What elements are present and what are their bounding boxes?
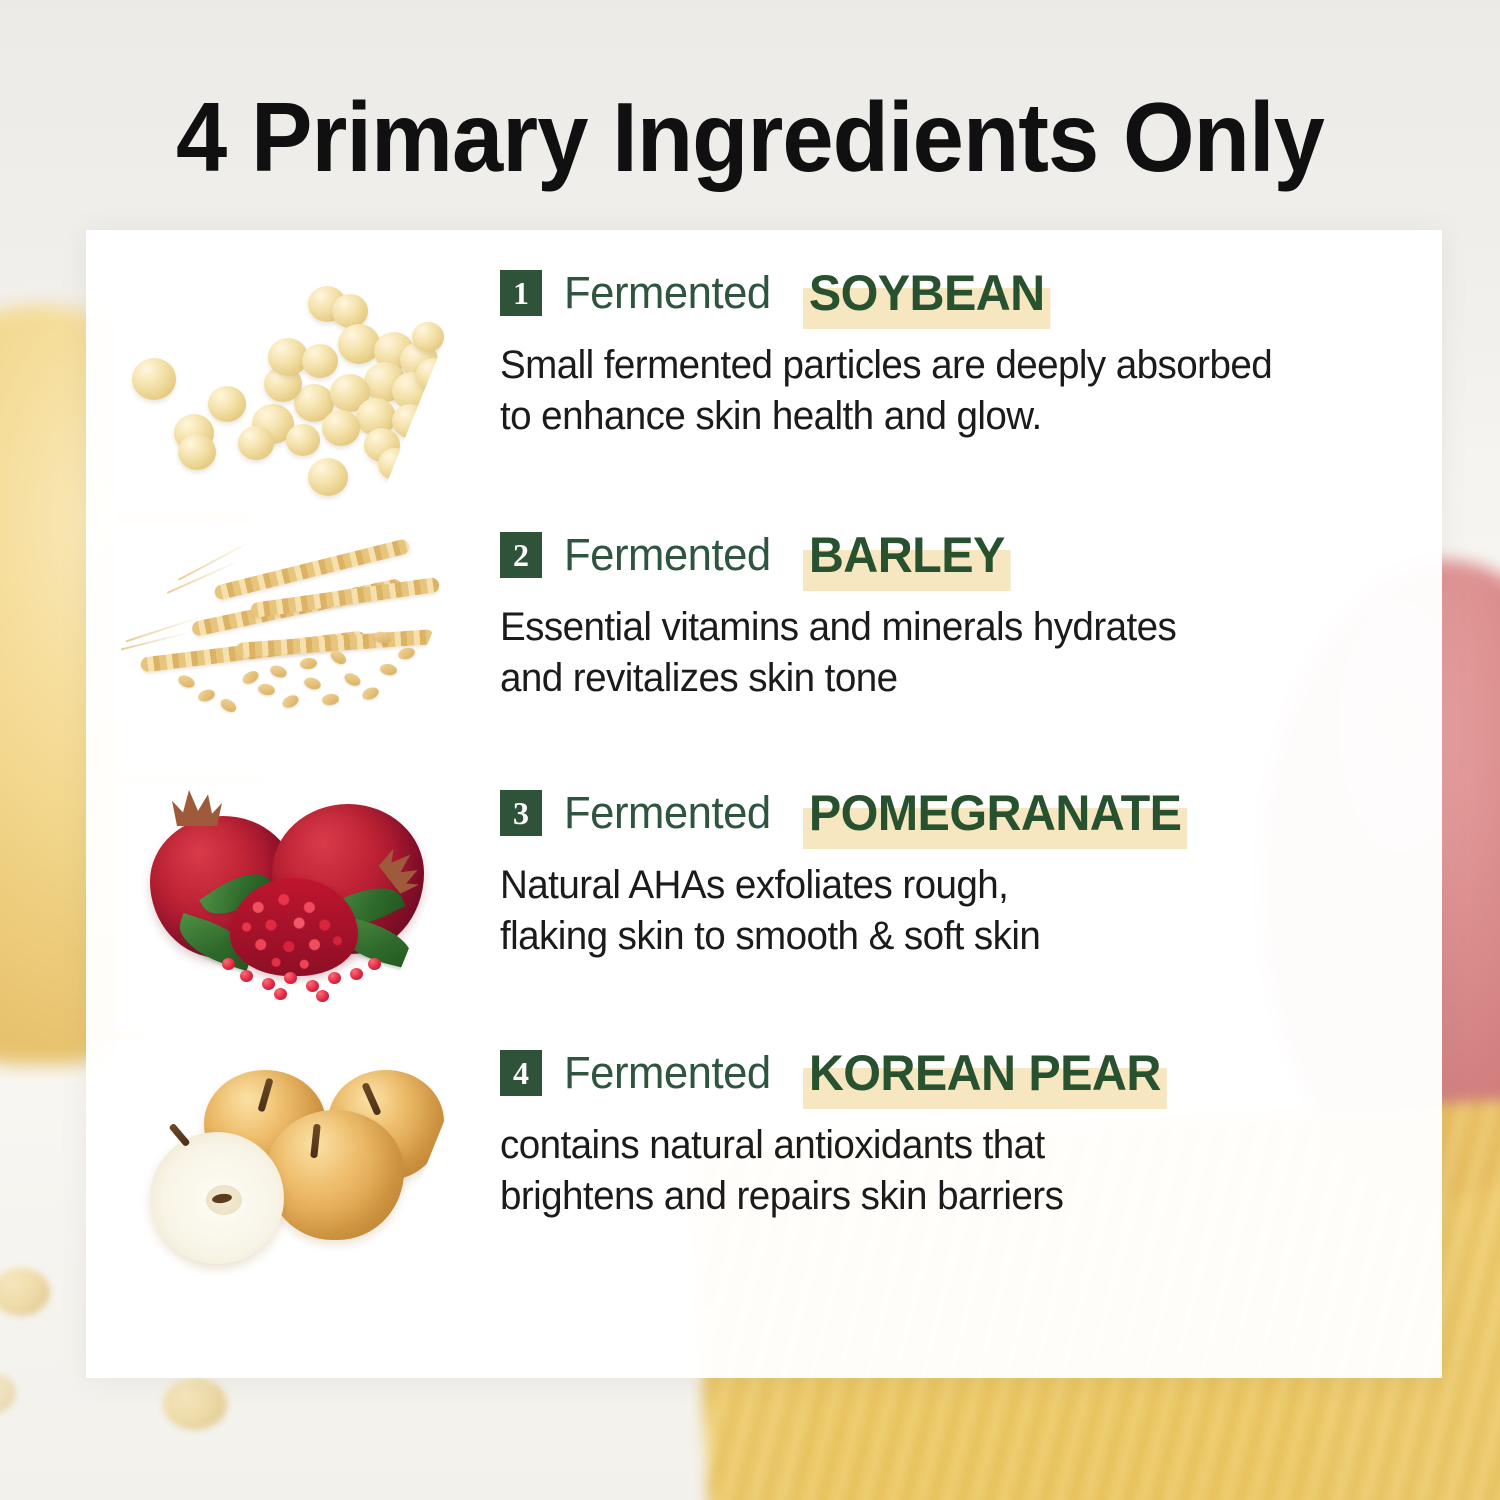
ingredient-label: Fermented — [564, 787, 771, 839]
ingredient-text-pomegranate: 3 Fermented POMEGRANATE Natural AHAs exf… — [500, 782, 1442, 962]
ingredient-number-badge: 3 — [500, 790, 542, 836]
pomegranate-crown-icon — [172, 790, 222, 826]
ingredient-title-line: 4 Fermented KOREAN PEAR — [500, 1042, 1442, 1104]
ingredient-number-badge: 2 — [500, 532, 542, 578]
barley-stalks-photo — [116, 524, 476, 774]
ingredient-title-line: 2 Fermented BARLEY — [500, 524, 1442, 586]
ingredient-description: Small fermented particles are deeply abs… — [500, 340, 1409, 442]
page-title: 4 Primary Ingredients Only — [45, 88, 1455, 188]
ingredient-number-badge: 4 — [500, 1050, 542, 1096]
ingredient-label: Fermented — [564, 267, 771, 319]
ingredient-row-soybean: 1 Fermented SOYBEAN Small fermented part… — [86, 262, 1442, 512]
ingredient-text-soybean: 1 Fermented SOYBEAN Small fermented part… — [500, 262, 1442, 442]
pomegranate-photo — [116, 782, 476, 1032]
ingredient-title-line: 1 Fermented SOYBEAN — [500, 262, 1442, 324]
background-soybean-blur — [163, 1378, 227, 1430]
ingredient-title-line: 3 Fermented POMEGRANATE — [500, 782, 1442, 844]
ingredient-text-korean-pear: 4 Fermented KOREAN PEAR contains natural… — [500, 1042, 1442, 1222]
soybeans-photo — [116, 262, 476, 512]
ingredient-description: Natural AHAs exfoliates rough, flaking s… — [500, 860, 1409, 962]
ingredient-row-pomegranate: 3 Fermented POMEGRANATE Natural AHAs exf… — [86, 782, 1442, 1032]
korean-pear-photo — [116, 1042, 476, 1292]
ingredient-number-badge: 1 — [500, 270, 542, 316]
ingredient-text-barley: 2 Fermented BARLEY Essential vitamins an… — [500, 524, 1442, 704]
ingredient-row-korean-pear: 4 Fermented KOREAN PEAR contains natural… — [86, 1042, 1442, 1292]
ingredient-name: KOREAN PEAR — [803, 1044, 1167, 1102]
ingredient-description: Essential vitamins and minerals hydrates… — [500, 602, 1409, 704]
ingredient-description: contains natural antioxidants that brigh… — [500, 1120, 1409, 1222]
ingredient-label: Fermented — [564, 1047, 771, 1099]
ingredient-row-barley: 2 Fermented BARLEY Essential vitamins an… — [86, 524, 1442, 774]
ingredient-label: Fermented — [564, 529, 771, 581]
ingredient-name: POMEGRANATE — [803, 784, 1187, 842]
ingredient-name: BARLEY — [803, 526, 1011, 584]
ingredient-name: SOYBEAN — [803, 264, 1050, 322]
